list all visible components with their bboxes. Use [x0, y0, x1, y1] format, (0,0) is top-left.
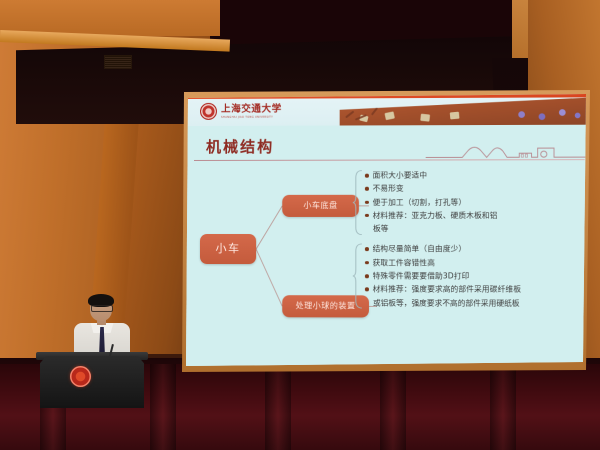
- bullet-item: 材料推荐：亚克力板、硬质木板和铝: [365, 210, 587, 223]
- university-logo: 上海交通大学 SHANGHAI JIAO TONG UNIVERSITY: [200, 103, 282, 120]
- skyline-decoration: [426, 137, 589, 162]
- university-seal-icon: [200, 103, 217, 120]
- bullet-continuation: 板等: [373, 223, 587, 235]
- bullet-text: 结构尽量简单（自由度少）: [373, 244, 467, 256]
- bullet-item: 不易形变: [365, 183, 587, 196]
- glasses-icon: [91, 305, 113, 312]
- bullet-text: 不易形变: [373, 183, 404, 195]
- bullet-dot-icon: [365, 261, 369, 265]
- bullet-item: 结构尽量简单（自由度少）: [365, 244, 587, 257]
- bullet-item: 材料推荐：强度要求高的部件采用碳纤维板: [365, 284, 587, 297]
- bullet-dot-icon: [365, 288, 369, 292]
- slide-title: 机械结构: [206, 136, 274, 157]
- presentation-slide: 上海交通大学 SHANGHAI JIAO TONG UNIVERSITY 机械结…: [186, 92, 593, 367]
- bullet-text: 便于加工（切割，打孔等）: [373, 196, 467, 208]
- slide-header: 上海交通大学 SHANGHAI JIAO TONG UNIVERSITY: [186, 97, 593, 126]
- bullet-dot-icon: [365, 214, 369, 218]
- podium: [40, 356, 144, 408]
- brace-icon-ball-device: [353, 244, 363, 310]
- university-name-cn: 上海交通大学: [221, 104, 282, 114]
- header-banner-photo: [339, 97, 592, 125]
- bullet-item: 获取工件容错性高: [365, 257, 587, 270]
- mindmap-node-chassis[interactable]: 小车底盘: [282, 195, 359, 217]
- ceiling-vent-grille: [104, 55, 132, 69]
- bullet-text: 特殊零件需要要借助3D打印: [373, 270, 470, 283]
- mindmap-root-node[interactable]: 小车: [200, 234, 256, 264]
- podium-emblem-icon: [70, 366, 91, 387]
- bullet-item: 便于加工（切割，打孔等）: [365, 196, 587, 209]
- bullet-dot-icon: [365, 187, 369, 191]
- bullet-dot-icon: [365, 248, 369, 252]
- bullet-item: 特殊零件需要要借助3D打印: [365, 270, 587, 283]
- auditorium-scene: 上海交通大学 SHANGHAI JIAO TONG UNIVERSITY 机械结…: [0, 0, 600, 450]
- bullet-dot-icon: [365, 200, 369, 204]
- bullet-group-chassis: 面积大小要适中 不易形变 便于加工（切割，打孔等） 材料推荐：亚克力板、硬质木板…: [365, 169, 587, 235]
- bullet-group-ball-device: 结构尽量简单（自由度少） 获取工件容错性高 特殊零件需要要借助3D打印 材料推荐…: [365, 244, 587, 310]
- bullet-dot-icon: [365, 274, 369, 278]
- bullet-text: 获取工件容错性高: [373, 257, 435, 269]
- bullet-item: 面积大小要适中: [365, 169, 587, 182]
- bullet-text: 面积大小要适中: [373, 170, 428, 182]
- bullet-continuation: 或铝板等，强度要求不高的部件采用硬纸板: [373, 297, 587, 310]
- bullet-text: 材料推荐：强度要求高的部件采用碳纤维板: [373, 284, 522, 297]
- bullet-dot-icon: [365, 174, 369, 178]
- brace-icon-chassis: [353, 170, 363, 236]
- projection-screen: 上海交通大学 SHANGHAI JIAO TONG UNIVERSITY 机械结…: [186, 94, 588, 366]
- bullet-content-area: 面积大小要适中 不易形变 便于加工（切割，打孔等） 材料推荐：亚克力板、硬质木板…: [365, 169, 587, 318]
- bullet-text: 材料推荐：亚克力板、硬质木板和铝: [373, 210, 498, 222]
- university-name-en: SHANGHAI JIAO TONG UNIVERSITY: [221, 115, 282, 118]
